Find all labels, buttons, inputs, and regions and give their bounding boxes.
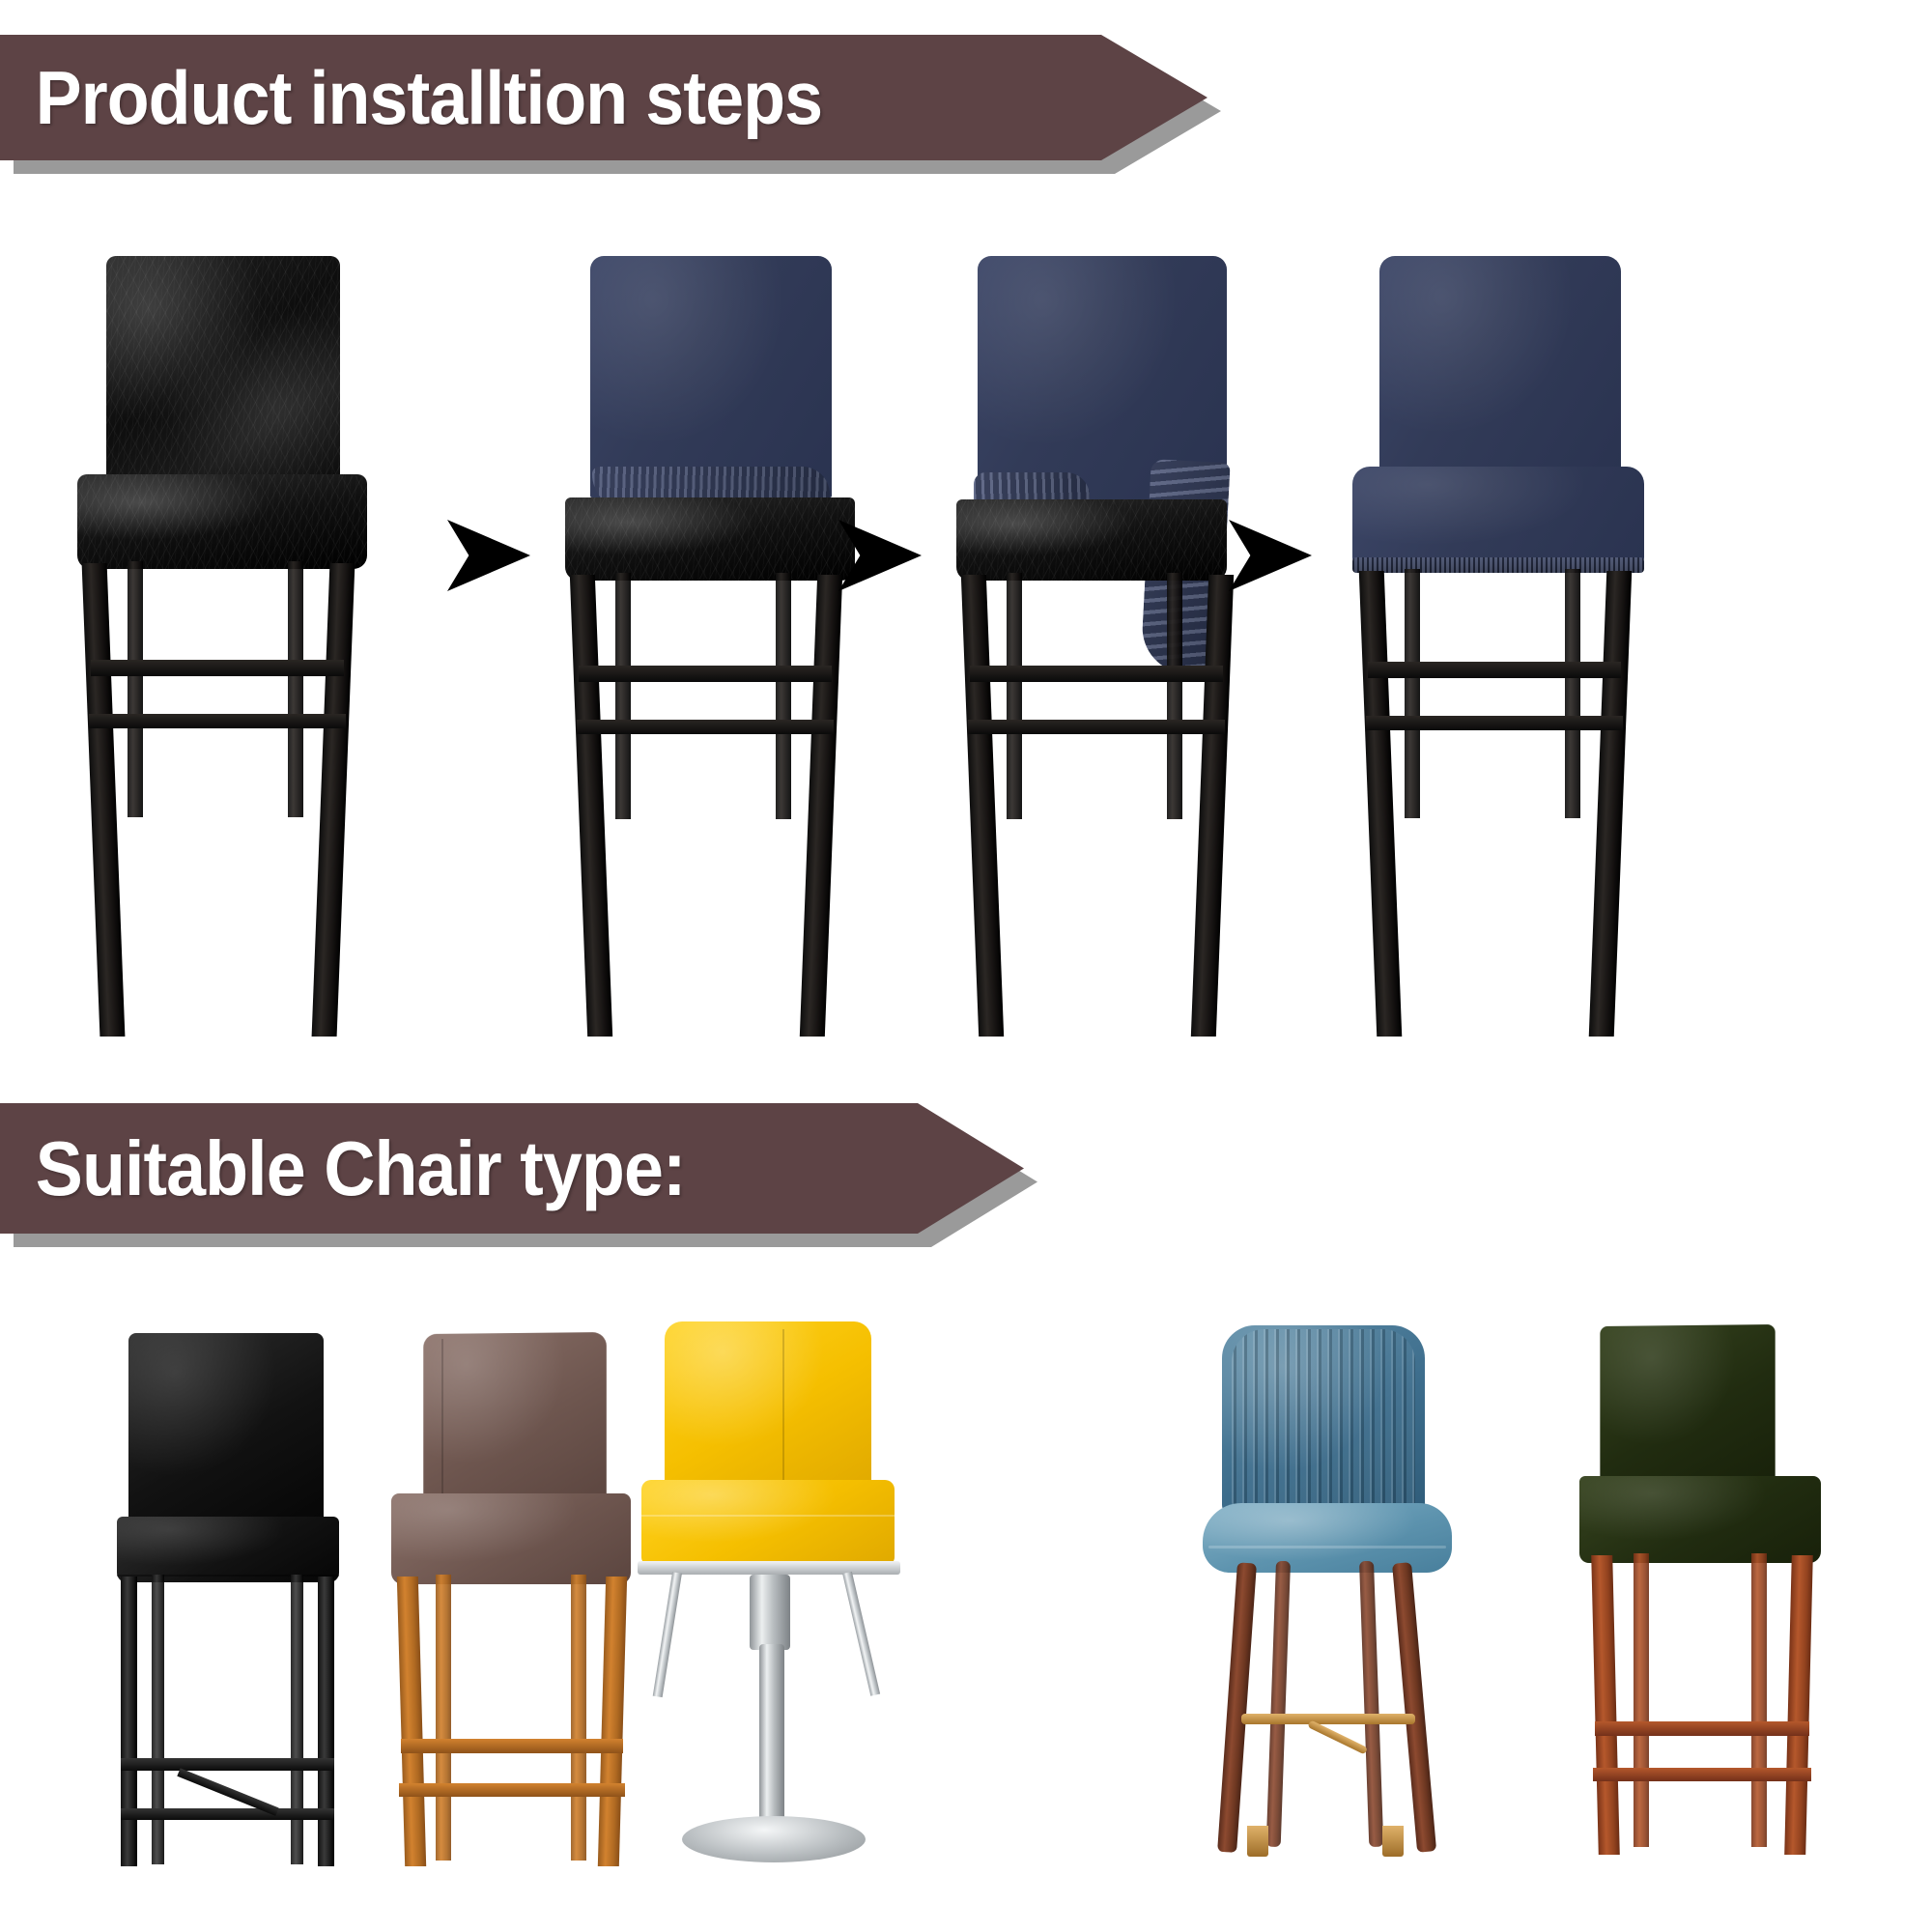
stool-rear-left-leg [615, 573, 631, 819]
stool-foot-rail-lower [577, 720, 834, 734]
chair-foot-rail-lower [1593, 1768, 1811, 1781]
chair-brass-cross-brace [1307, 1719, 1368, 1754]
stool-rear-right-leg [288, 561, 303, 817]
chair-backrest [128, 1333, 324, 1526]
chair-front-left-leg [121, 1577, 137, 1866]
chair-foot-rail [401, 1739, 623, 1753]
chair-front-right-leg [598, 1577, 627, 1866]
chair-brass-foot-rail [1241, 1714, 1415, 1724]
stool-foot-rail-lower [968, 720, 1225, 734]
stool-foot-rail-lower [1366, 716, 1623, 730]
stool-rear-right-leg [1167, 573, 1182, 819]
banner-title-suitable-chair: Suitable Chair type: [0, 1124, 686, 1213]
leather-texture [77, 474, 367, 569]
chair-front-right-leg [1392, 1562, 1436, 1853]
chair-pedestal-shaft [759, 1644, 784, 1833]
chair-rear-left-leg [152, 1575, 164, 1864]
chair-backrest-pleating [1232, 1329, 1415, 1511]
chair-rear-left-leg [436, 1575, 451, 1861]
chair-type-5-green-velvet-wood-leg-stool [1579, 1325, 1869, 1876]
chair-rear-right-leg [571, 1575, 586, 1861]
stool-seat [77, 474, 367, 569]
leather-texture [956, 499, 1227, 581]
stool-front-right-leg [312, 563, 355, 1037]
chair-foot-rail [1595, 1721, 1809, 1736]
chair-rear-right-leg [291, 1575, 303, 1864]
banner-body: Product installtion steps [0, 35, 1207, 160]
stool-seat [565, 497, 855, 581]
chair-type-3-yellow-leather-swivel-stool [638, 1321, 947, 1891]
chair-front-left-leg [397, 1577, 426, 1866]
stool-foot-rail-front [1368, 662, 1621, 678]
chair-rear-left-leg [1266, 1561, 1291, 1847]
chair-front-right-leg [1784, 1555, 1813, 1855]
chair-seat-seam [117, 1575, 339, 1577]
stool-seat-covered [1352, 467, 1644, 567]
chair-seat [117, 1517, 339, 1582]
stool-front-left-leg [82, 563, 126, 1037]
chair-brass-foot-cap-right [1382, 1826, 1404, 1857]
leather-texture [106, 256, 340, 497]
chair-seat [641, 1480, 895, 1565]
step-4-cover-fully-installed [1350, 256, 1669, 1038]
chair-backrest-center-seam [782, 1329, 784, 1486]
banner-suitable-chair-type: Suitable Chair type: [0, 1103, 1024, 1234]
stool-front-right-leg [800, 575, 842, 1037]
chair-chrome-support-right [842, 1572, 880, 1696]
stool-rear-left-leg [128, 561, 143, 817]
step-2-cover-over-backrest [565, 256, 884, 1038]
step-1-bare-bar-stool [77, 256, 396, 1038]
stool-foot-rail-front [91, 660, 344, 676]
chair-seat [391, 1493, 631, 1584]
stool-foot-rail-lower [89, 714, 346, 728]
stool-backrest-covered [1379, 256, 1621, 484]
chair-backrest [1222, 1325, 1425, 1515]
chair-rear-right-leg [1359, 1561, 1383, 1847]
banner-installation-steps: Product installtion steps [0, 35, 1207, 160]
chair-gas-lift-column [750, 1575, 790, 1650]
chair-type-4-teal-velvet-pleated-stool [1203, 1325, 1492, 1876]
chair-foot-rail-lower [399, 1783, 625, 1797]
stool-rear-right-leg [776, 573, 791, 819]
stool-backrest-covered [590, 256, 832, 497]
stool-front-left-leg [961, 575, 1004, 1037]
step-3-cover-pulled-down [956, 256, 1275, 1038]
chair-foot-rail-lower [121, 1808, 334, 1820]
stool-front-right-leg [1589, 571, 1633, 1037]
chair-type-2-brown-leather-wood-leg-stool [382, 1333, 671, 1874]
chair-backrest [665, 1321, 871, 1492]
chair-pedestal-base [682, 1816, 866, 1862]
chair-brass-foot-cap-left [1247, 1826, 1268, 1857]
stool-seat [956, 499, 1227, 581]
chair-rear-left-leg [1634, 1553, 1649, 1847]
chair-front-right-leg [318, 1577, 334, 1866]
chair-type-1-black-leather-metal-frame-stool [101, 1333, 391, 1874]
stool-rear-left-leg [1007, 573, 1022, 819]
chair-seat-piping [641, 1515, 895, 1517]
banner-title-installation: Product installtion steps [0, 54, 822, 142]
chair-front-left-leg [1217, 1562, 1257, 1853]
chair-seat-piping [1208, 1546, 1446, 1548]
cover-elastic-hem [1352, 557, 1644, 573]
chair-backrest [423, 1332, 607, 1506]
stool-foot-rail-front [579, 666, 832, 682]
stool-backrest [106, 256, 340, 497]
chair-backrest-edge-seam [441, 1339, 443, 1499]
chair-front-left-leg [1591, 1555, 1620, 1855]
stool-front-left-leg [570, 575, 612, 1037]
chair-foot-rail [121, 1758, 334, 1771]
stool-rear-right-leg [1565, 569, 1580, 818]
leather-texture [565, 497, 855, 581]
chair-chrome-support-left [653, 1572, 682, 1697]
stool-rear-left-leg [1405, 569, 1420, 818]
chair-rear-right-leg [1751, 1553, 1767, 1847]
step-arrow-1-icon [447, 520, 530, 591]
stool-front-left-leg [1359, 571, 1403, 1037]
chair-backrest [1600, 1324, 1775, 1489]
chair-seat [1579, 1476, 1821, 1563]
stool-foot-rail-front [970, 666, 1223, 682]
banner-body: Suitable Chair type: [0, 1103, 1024, 1234]
